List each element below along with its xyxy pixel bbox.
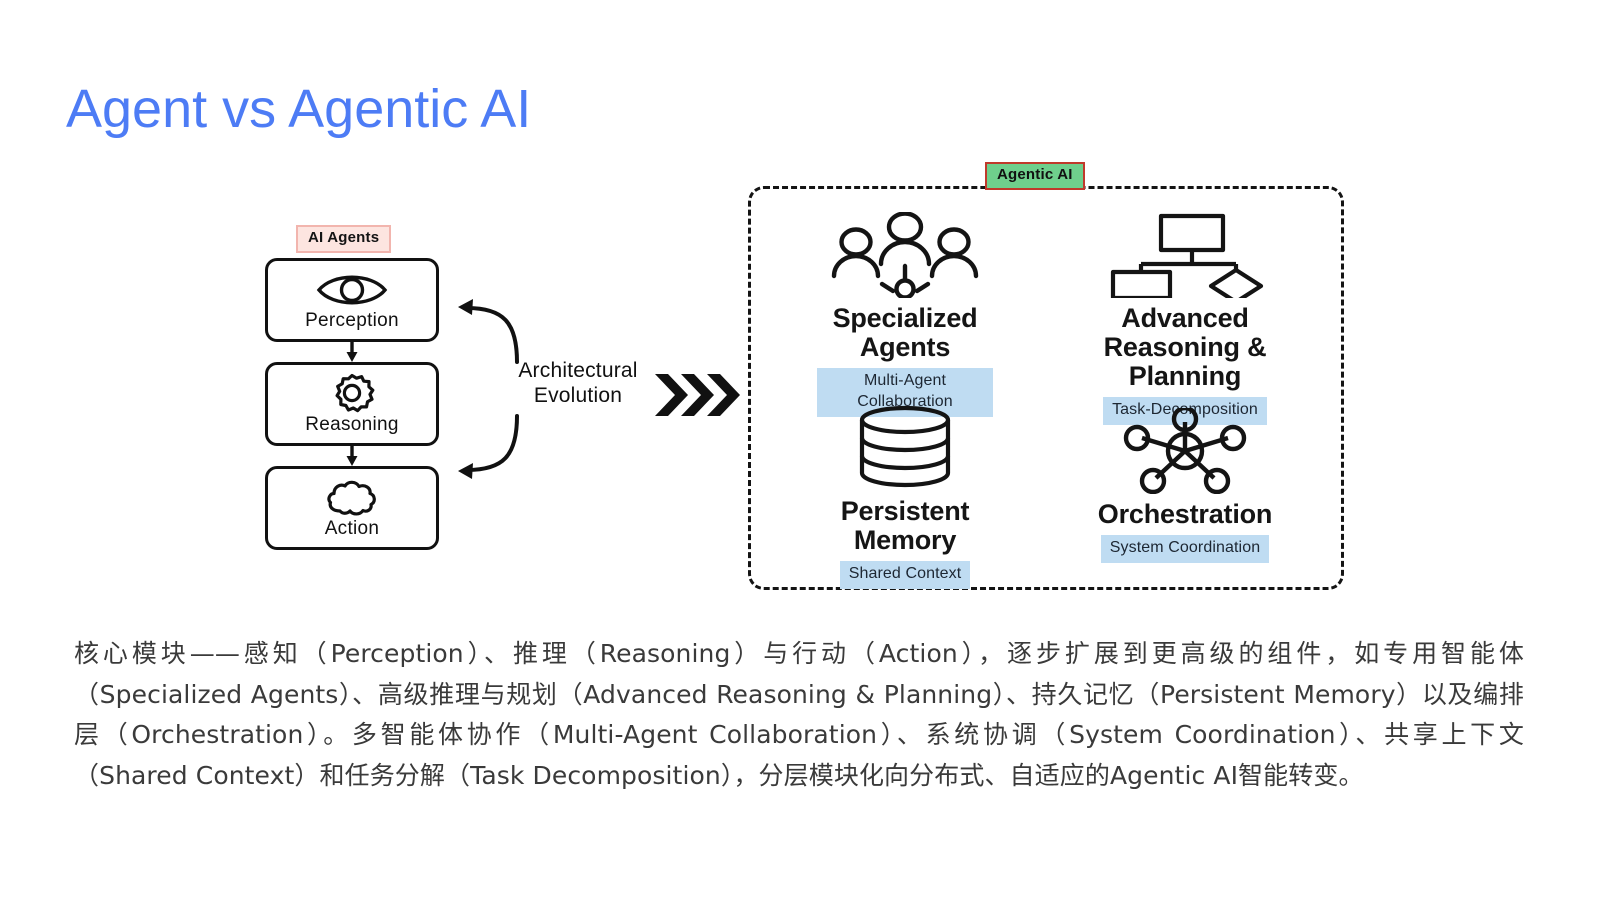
- capability-title-advanced-reasoning: Advanced Reasoning & Planning: [1040, 304, 1330, 391]
- capability-title-persistent-memory: Persistent Memory: [760, 497, 1050, 555]
- ai-agents-tag: AI Agents: [296, 225, 391, 253]
- capability-sub-orchestration: System Coordination: [1101, 535, 1269, 563]
- agentic-ai-tag: Agentic AI: [985, 162, 1085, 190]
- capability-orchestration[interactable]: Orchestration System Coordination: [1040, 408, 1330, 563]
- stage-box-perception[interactable]: Perception: [265, 258, 439, 342]
- capability-persistent-memory[interactable]: Persistent Memory Shared Context: [760, 405, 1050, 589]
- architectural-evolution-group: Architectural Evolution: [455, 290, 745, 490]
- title-line: Reasoning &: [1040, 333, 1330, 362]
- eye-icon: [315, 269, 389, 311]
- multi-person-network-icon: [760, 212, 1050, 298]
- stage-box-reasoning[interactable]: Reasoning: [265, 362, 439, 446]
- diagram-figure: AI Agents Perception: [0, 150, 1600, 610]
- stage-label-reasoning: Reasoning: [305, 414, 399, 436]
- capability-title-orchestration: Orchestration: [1040, 500, 1330, 529]
- hierarchy-flowchart-icon: [1040, 212, 1330, 298]
- title-line: Specialized: [760, 304, 1050, 333]
- capability-sub-persistent-memory: Shared Context: [840, 561, 971, 589]
- gear-icon: [329, 373, 375, 415]
- title-line: Persistent: [760, 497, 1050, 526]
- capability-advanced-reasoning[interactable]: Advanced Reasoning & Planning Task-Decom…: [1040, 212, 1330, 425]
- evolution-label-line1: Architectural: [483, 358, 673, 383]
- title-line: Memory: [760, 526, 1050, 555]
- stage-label-action: Action: [325, 518, 380, 540]
- hub-and-spoke-icon: [1040, 408, 1330, 494]
- title-line: Advanced: [1040, 304, 1330, 333]
- arrow-perception-to-reasoning: [345, 342, 359, 362]
- stage-label-perception: Perception: [305, 310, 399, 332]
- triple-chevron-right-icon: [655, 372, 747, 418]
- cloud-icon: [324, 477, 380, 519]
- architectural-evolution-label: Architectural Evolution: [483, 358, 673, 408]
- title-line: Planning: [1040, 362, 1330, 391]
- title-line: Orchestration: [1040, 500, 1330, 529]
- stage-box-action[interactable]: Action: [265, 466, 439, 550]
- page-title: Agent vs Agentic AI: [66, 80, 531, 139]
- caption-text: 核心模块——感知（Perception）、推理（Reasoning）与行动（Ac…: [74, 634, 1524, 796]
- title-line: Agents: [760, 333, 1050, 362]
- arrow-reasoning-to-action: [345, 446, 359, 466]
- evolution-label-line2: Evolution: [483, 383, 673, 408]
- database-cylinder-icon: [760, 405, 1050, 491]
- capability-title-specialized-agents: Specialized Agents: [760, 304, 1050, 362]
- capability-specialized-agents[interactable]: Specialized Agents Multi-Agent Collabora…: [760, 212, 1050, 417]
